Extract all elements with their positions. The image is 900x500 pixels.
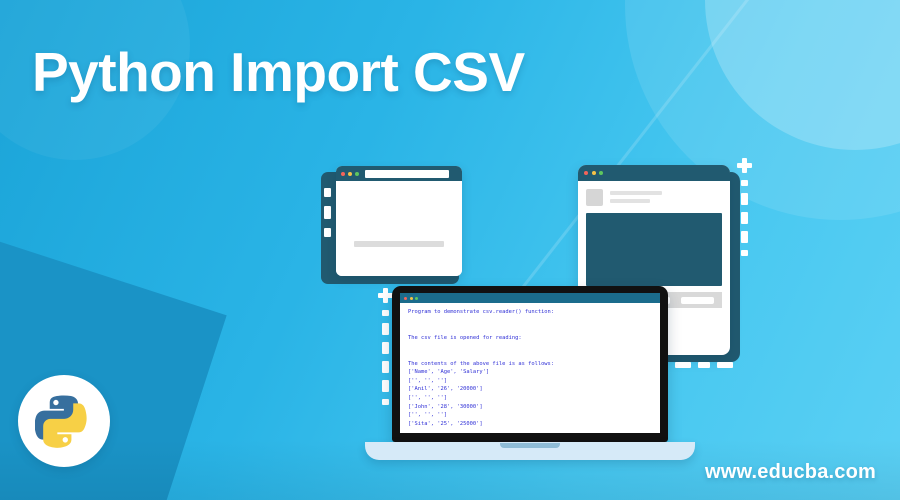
minimize-dot-icon[interactable] xyxy=(410,297,413,300)
terminal-line: ['', '', ''] xyxy=(408,411,660,420)
avatar xyxy=(586,189,603,206)
terminal-line: ['Anil', '26', '20000'] xyxy=(408,385,660,394)
maximize-dot-icon[interactable] xyxy=(415,297,418,300)
side-tab-3 xyxy=(324,228,331,237)
close-dot-icon[interactable] xyxy=(341,172,345,176)
dashed-accent-right xyxy=(737,158,752,256)
terminal-line: Program to demonstrate csv.reader() func… xyxy=(408,308,660,317)
terminal-line: ['Name', 'Age', 'Salary'] xyxy=(408,368,660,377)
side-tab-2 xyxy=(324,206,331,219)
text-line-2 xyxy=(610,199,650,203)
browser-right-titlebar xyxy=(578,165,730,181)
terminal-line: ['John', '28', '30000'] xyxy=(408,403,660,412)
minimize-dot-icon[interactable] xyxy=(592,171,596,175)
content-header xyxy=(586,189,722,206)
browser-window-left[interactable] xyxy=(336,166,462,276)
laptop-screen[interactable]: Program to demonstrate csv.reader() func… xyxy=(400,293,660,433)
dashed-accent-left xyxy=(378,288,393,405)
banner-image: Python Import CSV xyxy=(0,0,900,500)
website-url: www.educba.com xyxy=(705,461,876,484)
terminal-line: ['Sita', '25', '25000'] xyxy=(408,420,660,429)
browser-left-content xyxy=(336,181,462,276)
python-logo-badge xyxy=(18,375,110,467)
close-dot-icon[interactable] xyxy=(404,297,407,300)
minimize-dot-icon[interactable] xyxy=(348,172,352,176)
address-bar[interactable] xyxy=(365,170,449,178)
plus-icon xyxy=(378,288,393,303)
laptop-lid: Program to demonstrate csv.reader() func… xyxy=(392,286,668,442)
terminal-output: Program to demonstrate csv.reader() func… xyxy=(400,303,660,428)
terminal-line: ['', '', ''] xyxy=(408,394,660,403)
maximize-dot-icon[interactable] xyxy=(599,171,603,175)
python-logo-icon xyxy=(35,392,93,450)
page-title: Python Import CSV xyxy=(32,40,525,104)
browser-left-titlebar xyxy=(336,166,462,181)
terminal-line: The contents of the above file is as fol… xyxy=(408,360,660,369)
terminal-titlebar xyxy=(400,293,660,303)
text-placeholder-lines xyxy=(610,189,662,203)
close-dot-icon[interactable] xyxy=(584,171,588,175)
text-line-1 xyxy=(610,191,662,195)
laptop: Program to demonstrate csv.reader() func… xyxy=(392,286,695,460)
terminal-line: ['', '', ''] xyxy=(408,377,660,386)
trackpad-notch xyxy=(500,443,560,448)
maximize-dot-icon[interactable] xyxy=(355,172,359,176)
plus-icon xyxy=(737,158,752,173)
side-tab-1 xyxy=(324,188,331,197)
terminal-line: The csv file is opened for reading: xyxy=(408,334,660,343)
media-panel xyxy=(586,213,722,286)
content-placeholder-bar xyxy=(354,241,444,247)
laptop-base xyxy=(365,442,695,460)
